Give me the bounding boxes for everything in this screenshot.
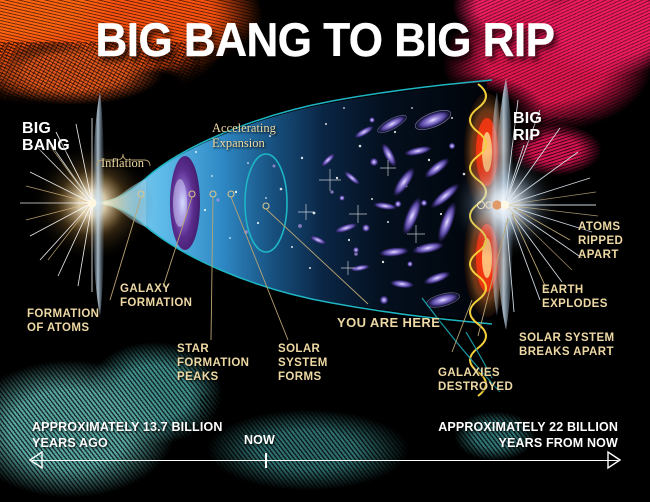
triangle-right-icon — [608, 452, 620, 468]
page-title: BIG BANG TO BIG RIP — [0, 14, 650, 68]
infographic-canvas: BIG BANG TO BIG RIP BIG BANG BIG RIP Inf… — [0, 0, 650, 502]
triangle-left-icon — [30, 452, 42, 468]
timeline-arrows — [0, 0, 650, 502]
